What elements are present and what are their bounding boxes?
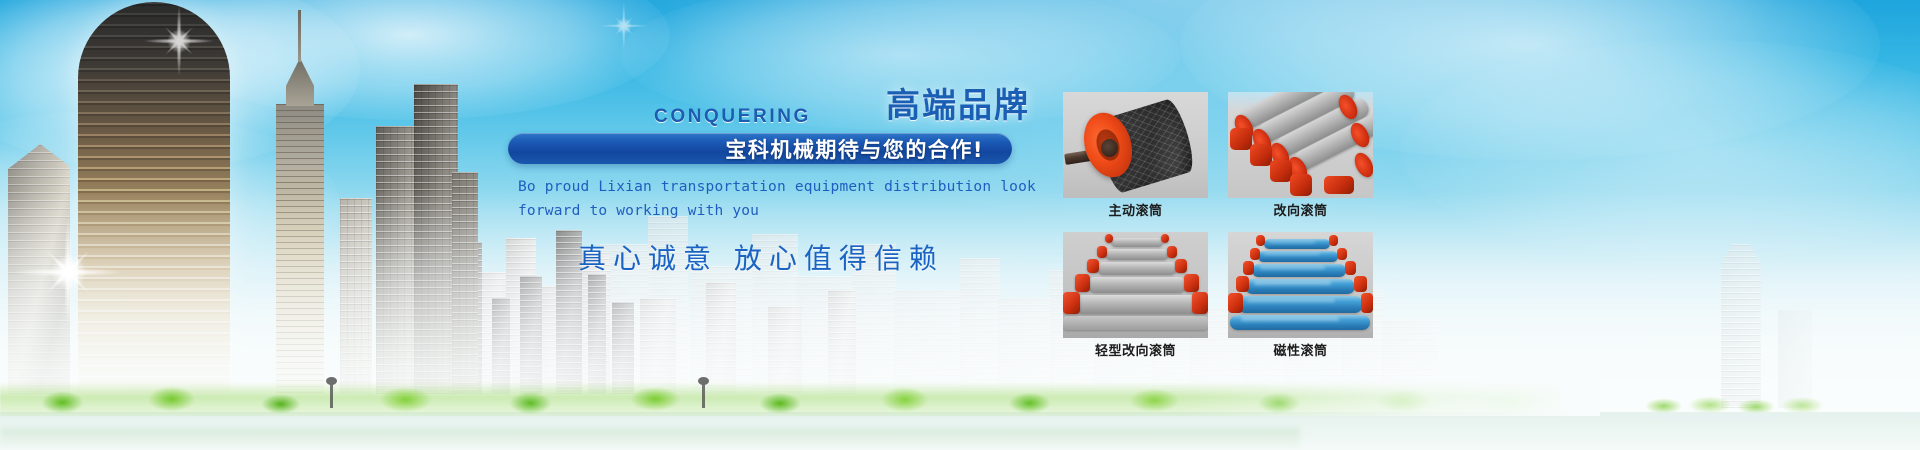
product-thumbnail-grid: 主动滚筒 改向滚筒	[1063, 92, 1373, 366]
roller-bank-blue-icon	[1228, 232, 1373, 338]
product-card[interactable]: 轻型改向滚筒	[1063, 232, 1208, 366]
product-card[interactable]: 主动滚筒	[1063, 92, 1208, 226]
product-caption: 磁性滚筒	[1228, 338, 1373, 366]
roller-bank-red-icon	[1228, 92, 1373, 198]
roller-conveyor-grey-icon	[1063, 232, 1208, 338]
brand-headline-cn: 高端品牌	[886, 78, 1030, 127]
grass-fade-overlay	[1180, 382, 1600, 416]
english-subtitle-line-2: forward to working with you	[518, 203, 759, 219]
drum-rubber-lagged-icon	[1063, 92, 1208, 198]
product-caption: 主动滚筒	[1063, 198, 1208, 226]
headline-pill-text: 宝科机械期待与您的合作!	[508, 133, 1012, 164]
product-caption: 改向滚筒	[1228, 198, 1373, 226]
promo-banner: 高端品牌 CONQUERING 宝科机械期待与您的合作! Bo proud Li…	[0, 0, 1920, 450]
product-card[interactable]: 磁性滚筒	[1228, 232, 1373, 366]
product-card[interactable]: 改向滚筒	[1228, 92, 1373, 226]
headline-group: 高端品牌 CONQUERING 宝科机械期待与您的合作! Bo proud Li…	[0, 0, 1060, 450]
slogan-cn: 真心诚意 放心值得信赖	[578, 237, 944, 277]
headline-pill-bar: 宝科机械期待与您的合作!	[508, 133, 1012, 164]
english-subtitle-line-1: Bo proud Lixian transportation equipment…	[518, 179, 1036, 195]
product-caption: 轻型改向滚筒	[1063, 338, 1208, 366]
building-far-right	[1710, 244, 1772, 408]
conquering-kicker: CONQUERING	[654, 106, 811, 128]
